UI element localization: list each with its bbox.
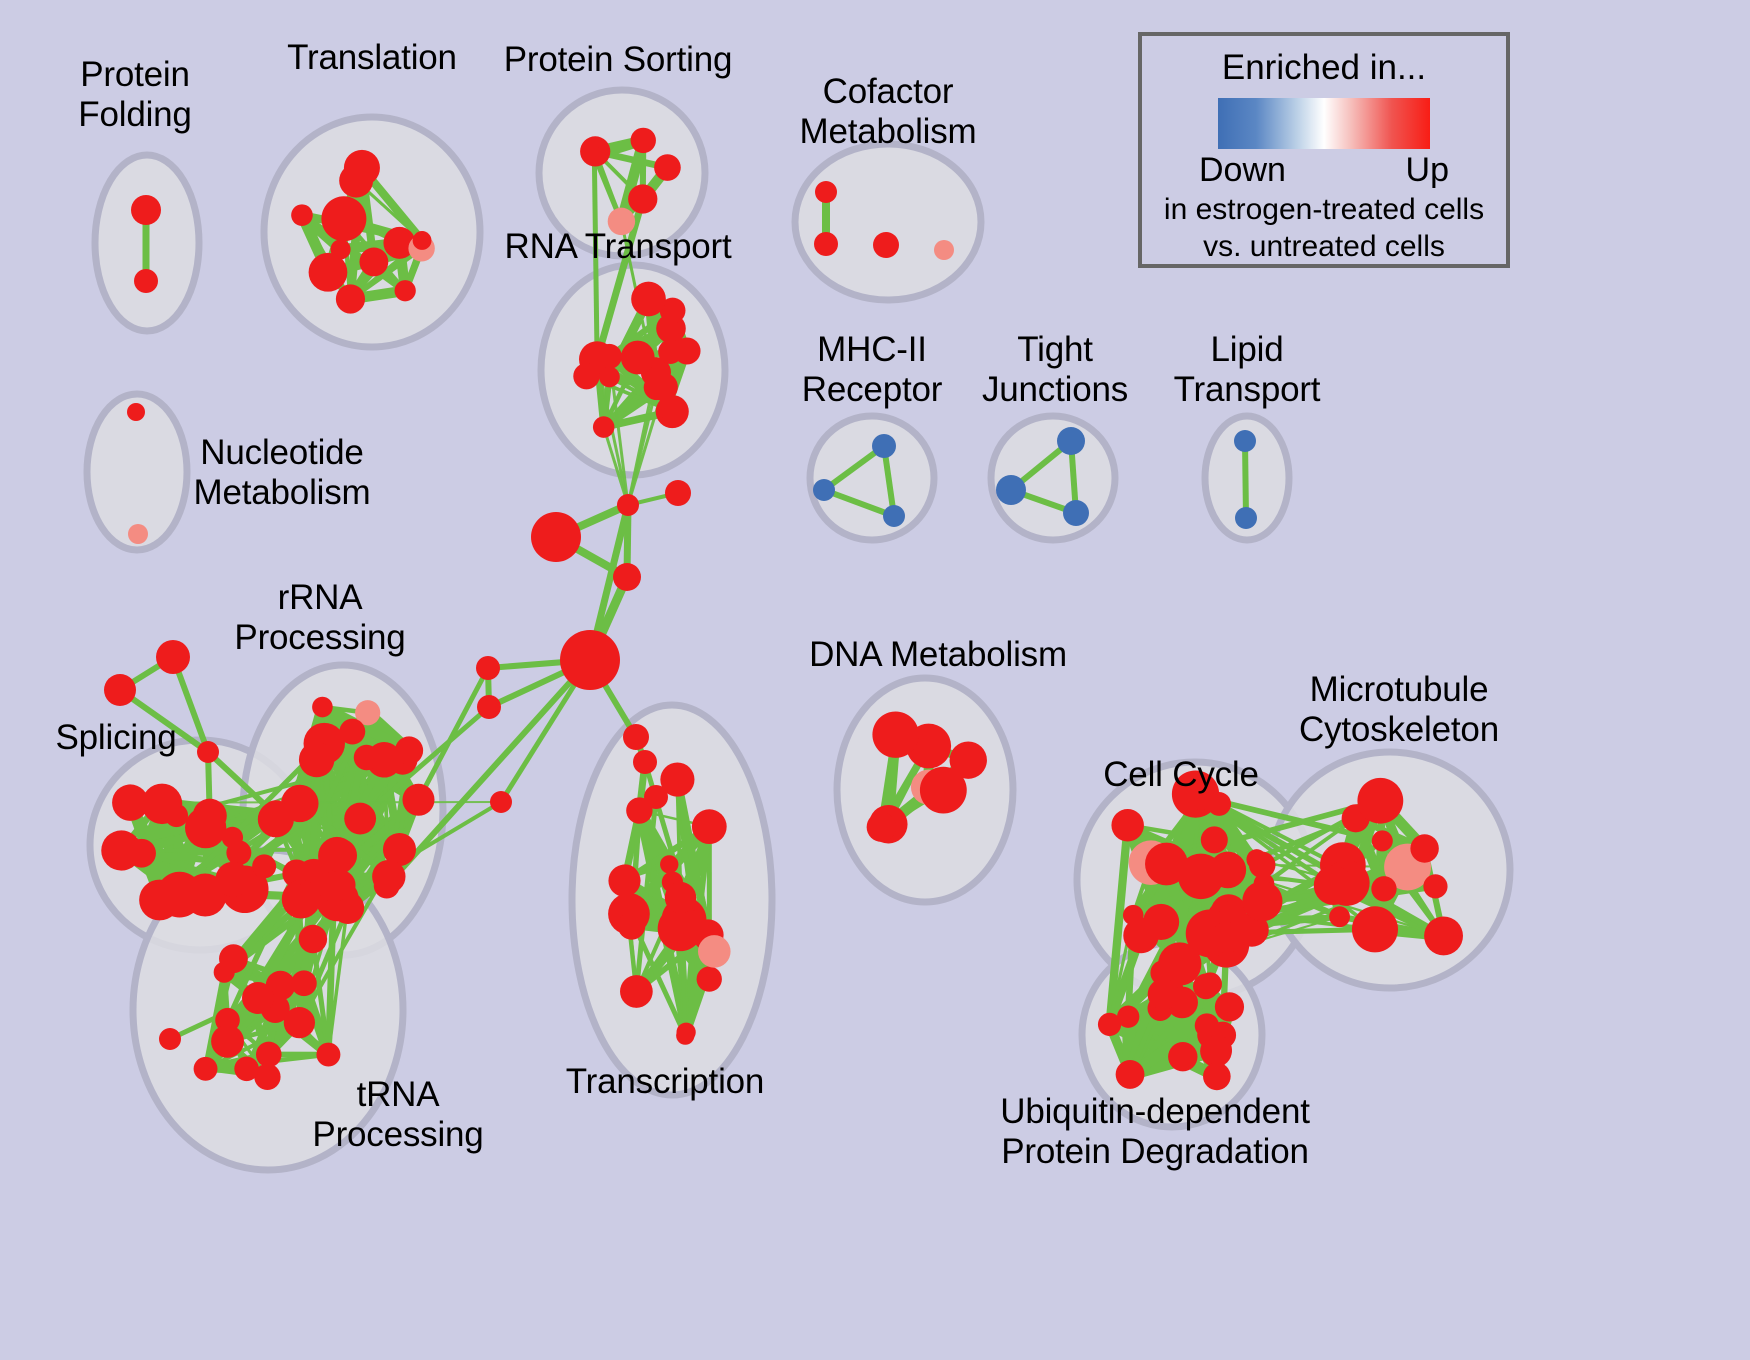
network-node	[402, 784, 434, 816]
network-node	[617, 494, 639, 516]
network-node	[326, 870, 356, 900]
network-node	[1329, 906, 1350, 927]
network-node	[585, 146, 603, 164]
legend-color-gradient	[1218, 98, 1430, 149]
cluster-ellipse-mhc-ii-receptor	[810, 416, 934, 540]
network-node	[1215, 992, 1244, 1021]
network-node	[1235, 507, 1257, 529]
legend-subtitle-line2: vs. untreated cells	[1203, 229, 1445, 264]
network-node	[814, 232, 838, 256]
network-node	[372, 860, 405, 893]
network-node	[1234, 430, 1256, 452]
network-node	[490, 791, 512, 813]
network-node	[560, 630, 620, 690]
network-node	[1352, 906, 1398, 952]
network-node	[194, 1057, 218, 1081]
network-node	[359, 247, 388, 276]
network-node	[613, 563, 641, 591]
network-node	[531, 512, 581, 562]
network-node	[197, 741, 219, 763]
network-node	[291, 204, 313, 226]
network-node	[1123, 905, 1144, 926]
network-node	[697, 966, 722, 991]
cluster-label-protein-folding: Protein Folding	[78, 55, 191, 135]
network-node	[665, 480, 691, 506]
network-node	[698, 935, 731, 968]
network-node	[815, 181, 837, 203]
network-node	[654, 154, 681, 181]
network-node	[258, 801, 294, 837]
network-node	[252, 854, 276, 878]
network-node	[413, 231, 432, 250]
network-node	[1372, 830, 1393, 851]
network-node	[813, 479, 835, 501]
legend-box: Enriched in... Down Up in estrogen-treat…	[1138, 32, 1510, 268]
network-node	[883, 505, 905, 527]
network-node	[219, 944, 248, 973]
cluster-label-dna-metabolism: DNA Metabolism	[809, 635, 1067, 675]
network-node	[1357, 778, 1403, 824]
network-node	[631, 128, 656, 153]
network-node	[159, 1028, 181, 1050]
network-node	[323, 839, 357, 873]
network-node	[1371, 876, 1396, 901]
network-node	[157, 872, 203, 918]
network-node	[873, 232, 899, 258]
network-node	[872, 434, 896, 458]
network-node	[628, 184, 657, 213]
network-node	[316, 1043, 340, 1067]
network-node	[1168, 1042, 1197, 1071]
network-node	[665, 882, 696, 913]
network-node	[1143, 904, 1179, 940]
network-node	[354, 745, 379, 770]
network-node	[611, 864, 639, 892]
network-node	[299, 742, 334, 777]
legend-endpoints: Down Up	[1199, 151, 1449, 190]
network-node	[242, 982, 274, 1014]
network-node	[1116, 1060, 1145, 1089]
network-node	[920, 767, 967, 814]
network-node	[339, 719, 365, 745]
cluster-label-cell-cycle: Cell Cycle	[1103, 755, 1259, 795]
network-node	[872, 711, 918, 757]
network-node	[1117, 1006, 1139, 1028]
network-node	[1145, 843, 1188, 886]
network-node	[1111, 809, 1143, 841]
network-node	[296, 883, 316, 903]
legend-subtitle-line1: in estrogen-treated cells	[1164, 192, 1484, 227]
enrichment-network-figure: Protein FoldingTranslationProtein Sortin…	[0, 0, 1750, 1360]
cluster-label-protein-sorting: Protein Sorting	[504, 40, 733, 80]
network-node	[597, 344, 622, 369]
network-node	[1242, 881, 1282, 921]
network-node	[658, 339, 682, 363]
network-node	[623, 724, 649, 750]
cluster-label-transcription: Transcription	[566, 1062, 764, 1102]
network-node	[1410, 834, 1438, 862]
network-node	[336, 284, 365, 313]
network-node	[1203, 1035, 1232, 1064]
legend-down-label: Down	[1199, 151, 1286, 190]
network-node	[234, 1057, 259, 1082]
network-node	[1199, 972, 1222, 995]
network-node	[131, 195, 161, 225]
network-node	[395, 736, 423, 764]
network-node	[312, 697, 333, 718]
network-node	[1423, 874, 1447, 898]
network-node	[215, 862, 250, 897]
network-node	[621, 341, 655, 375]
network-node	[299, 925, 327, 953]
network-node	[996, 475, 1026, 505]
network-node	[142, 784, 182, 824]
network-node	[644, 785, 668, 809]
cluster-label-trna-processing: tRNA Processing	[312, 1075, 483, 1155]
network-node	[211, 1025, 244, 1058]
legend-title: Enriched in...	[1222, 48, 1426, 88]
network-node	[633, 750, 657, 774]
network-node	[321, 196, 366, 241]
network-node	[395, 280, 416, 301]
network-node	[657, 398, 677, 418]
network-node	[593, 416, 615, 438]
network-node	[1201, 826, 1228, 853]
network-node	[1203, 1063, 1231, 1091]
cluster-label-cofactor-metabolism: Cofactor Metabolism	[800, 72, 977, 152]
cluster-label-nucleotide-metabolism: Nucleotide Metabolism	[194, 433, 371, 513]
network-node	[1249, 852, 1276, 879]
cluster-label-splicing: Splicing	[56, 718, 177, 758]
network-node	[1063, 500, 1089, 526]
network-node	[692, 809, 727, 844]
cluster-label-rrna-processing: rRNA Processing	[234, 578, 405, 658]
cluster-label-translation: Translation	[287, 38, 457, 78]
legend-up-label: Up	[1406, 151, 1449, 190]
cluster-label-tight-junctions: Tight Junctions	[982, 330, 1128, 410]
network-node	[676, 1027, 694, 1045]
cluster-label-mhc-ii-receptor: MHC-II Receptor	[802, 330, 942, 410]
network-node	[134, 269, 158, 293]
network-node	[599, 367, 620, 388]
network-node	[128, 524, 148, 544]
network-node	[256, 1042, 282, 1068]
network-node	[573, 363, 599, 389]
network-node	[104, 674, 136, 706]
network-node	[867, 812, 897, 842]
network-node	[660, 855, 678, 873]
network-node	[1211, 922, 1242, 953]
network-node	[934, 240, 954, 260]
cluster-label-lipid-transport: Lipid Transport	[1174, 330, 1321, 410]
network-node	[127, 839, 156, 868]
network-node	[620, 975, 653, 1008]
network-edge	[1245, 441, 1246, 518]
network-node	[1148, 979, 1179, 1010]
network-node	[477, 695, 501, 719]
cluster-label-ubiquitin-protein-degradation: Ubiquitin-dependent Protein Degradation	[1000, 1092, 1310, 1172]
network-node	[156, 640, 190, 674]
network-node	[476, 656, 500, 680]
cluster-label-rna-transport: RNA Transport	[505, 227, 732, 267]
network-node	[1057, 427, 1085, 455]
network-node	[631, 282, 666, 317]
cluster-label-microtubule-cytoskeleton: Microtubule Cytoskeleton	[1299, 670, 1499, 750]
network-node	[618, 912, 646, 940]
network-node	[309, 253, 348, 292]
network-node	[344, 803, 376, 835]
network-node	[127, 403, 145, 421]
network-node	[344, 150, 380, 186]
network-node	[1314, 866, 1353, 905]
network-node	[189, 816, 212, 839]
network-node	[1424, 916, 1463, 955]
